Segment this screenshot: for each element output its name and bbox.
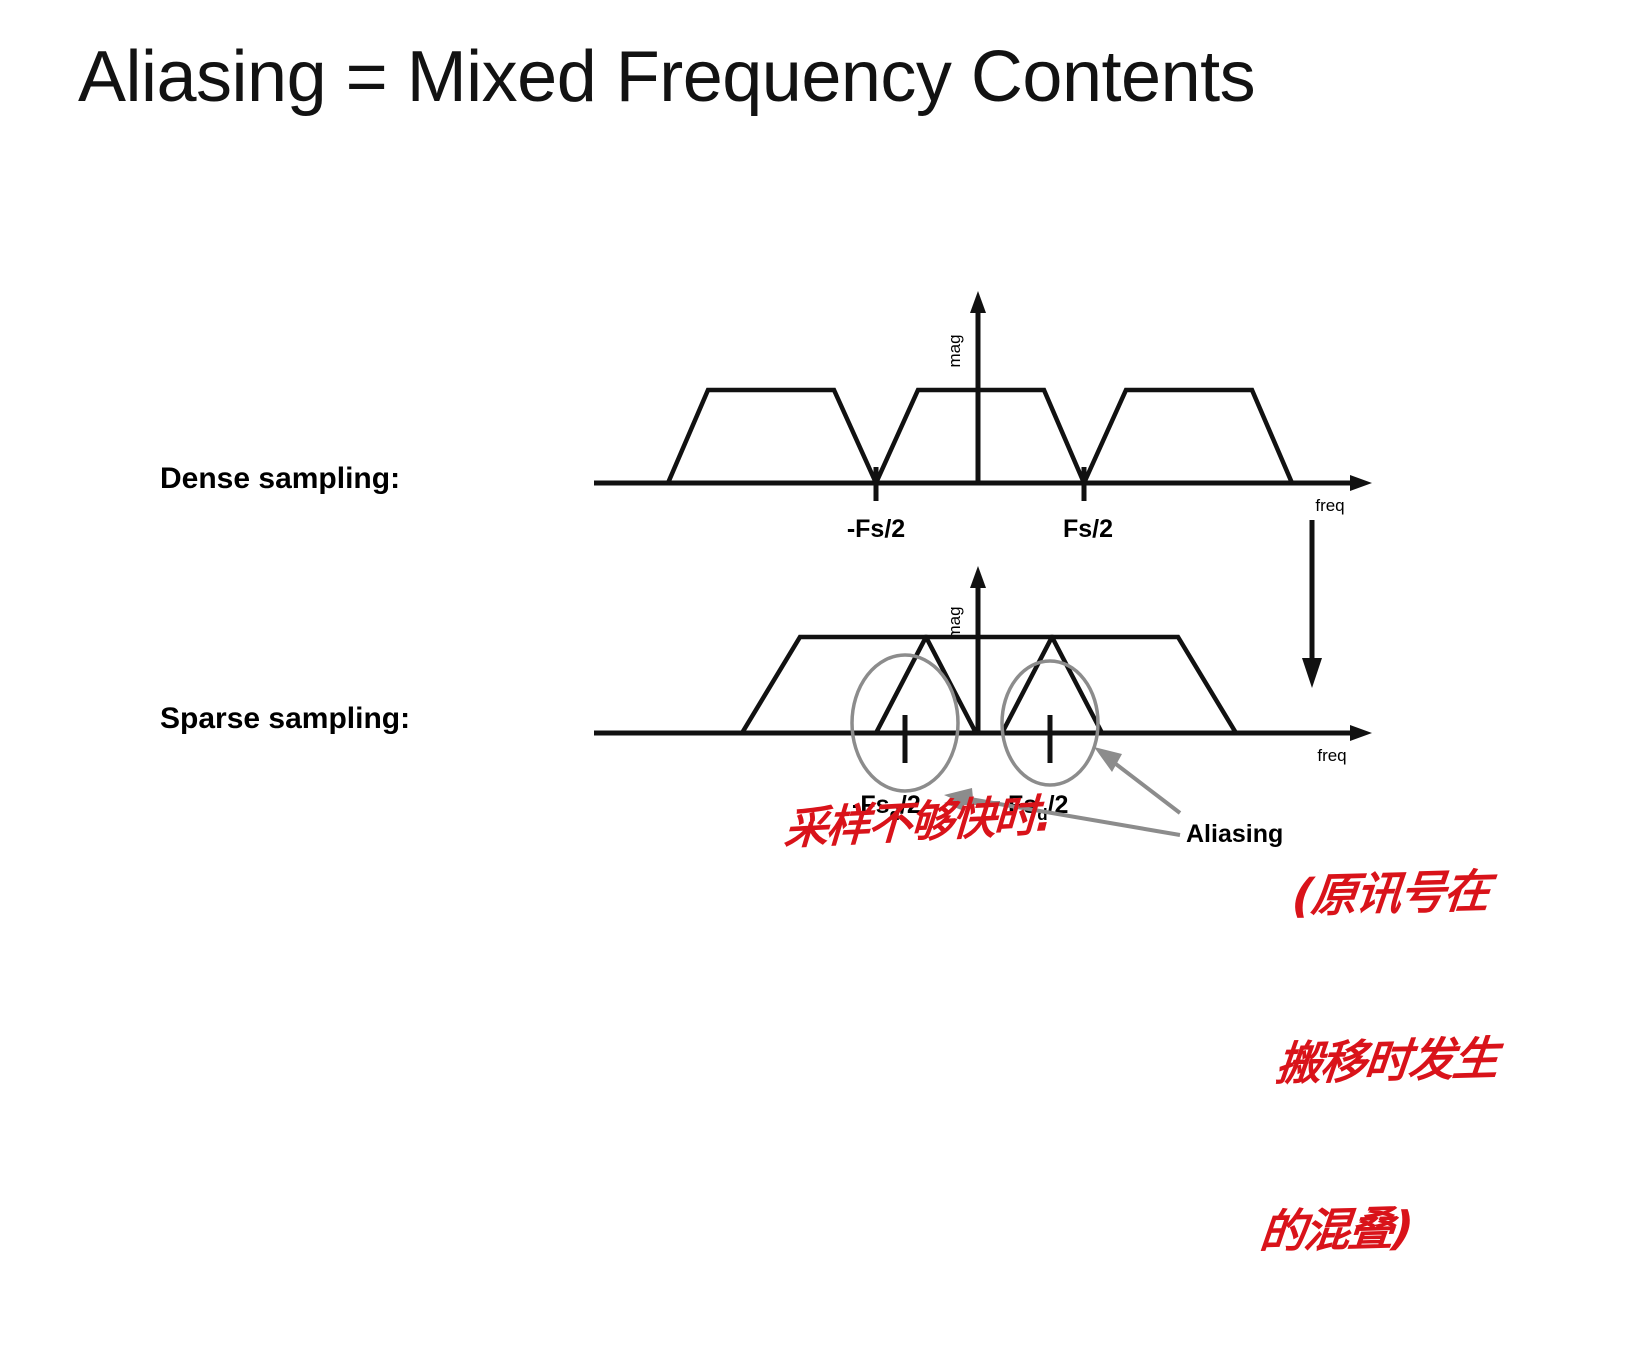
red-handwriting-right-line-2: 搬移时发生: [1274, 1030, 1500, 1092]
sparse-sampling-label: Sparse sampling:: [160, 702, 410, 736]
y-axis-group: [970, 291, 986, 483]
y-axis-label: mag: [945, 606, 964, 639]
aliasing-arrow-right: [1094, 747, 1180, 813]
spectrum-replica-negative: [596, 390, 876, 483]
transition-down-arrow: [1278, 520, 1358, 695]
dense-sampling-diagram: mag freq -Fs/2 Fs/2: [560, 285, 1380, 560]
red-handwriting-right-line-1: (原讯号在: [1290, 862, 1516, 924]
spectrum-replica-positive: [1084, 390, 1292, 483]
page-title: Aliasing = Mixed Frequency Contents: [78, 36, 1255, 118]
dense-sampling-label: Dense sampling:: [160, 462, 400, 496]
x-axis-group: [594, 475, 1372, 491]
tick-label-plus-fs-half: Fs/2: [1063, 515, 1113, 543]
dense-spectrum-svg: mag freq -Fs/2 Fs/2: [560, 285, 1380, 555]
tick-label-minus-fs-half: -Fs/2: [847, 515, 905, 543]
red-handwriting-right-line-3: 的混叠): [1257, 1198, 1483, 1260]
aliasing-callout-label: Aliasing: [1186, 820, 1283, 848]
slide-canvas: Aliasing = Mixed Frequency Contents Dens…: [0, 0, 1649, 1080]
y-axis-label: mag: [945, 334, 964, 367]
spectrum-replica-baseband: [876, 637, 1102, 733]
down-arrow-svg: [1278, 520, 1358, 690]
x-axis-label: freq: [1315, 496, 1344, 515]
y-axis-group: [970, 566, 986, 733]
